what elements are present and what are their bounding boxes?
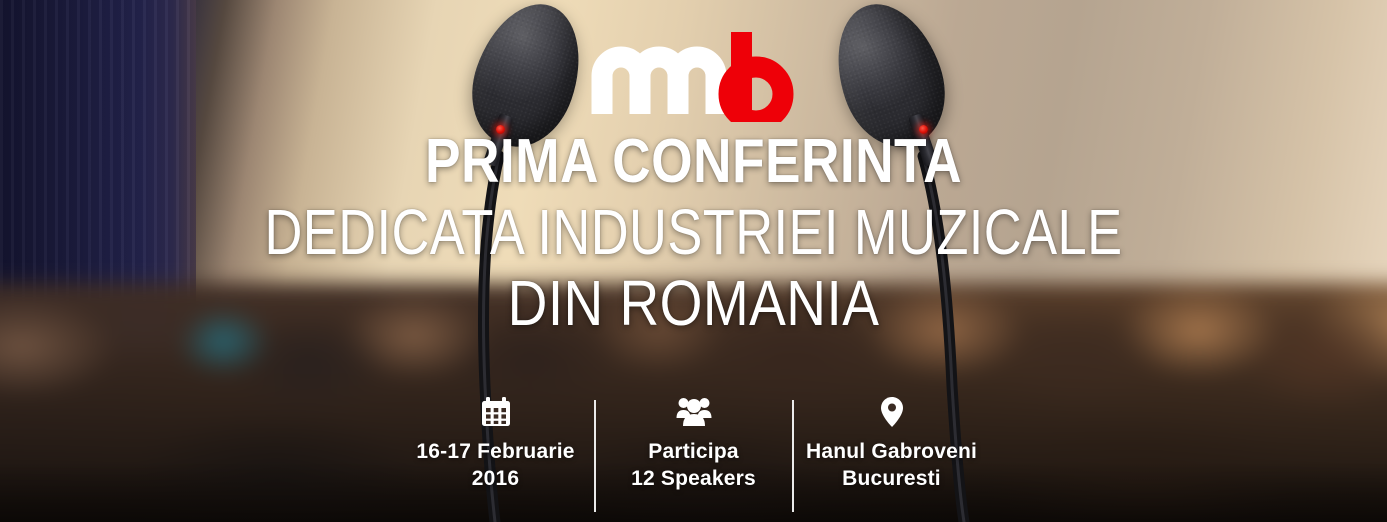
info-item-location: Hanul Gabroveni Bucuresti: [794, 396, 990, 492]
users-icon: [602, 396, 786, 428]
microphone-right-led: [919, 125, 928, 134]
info-date-line-1: 16-17 Februarie: [416, 440, 574, 463]
info-speakers-text: Participa 12 Speakers: [602, 440, 786, 492]
info-date-line-2: 2016: [404, 465, 588, 492]
event-info-bar: 16-17 Februarie 2016 Participa 12 Speake…: [0, 396, 1387, 512]
info-location-line-2: Bucuresti: [800, 465, 984, 492]
info-date-text: 16-17 Februarie 2016: [404, 440, 588, 492]
info-divider-1: [594, 400, 596, 512]
info-location-text: Hanul Gabroveni Bucuresti: [800, 440, 984, 492]
info-divider-2: [792, 400, 794, 512]
calendar-icon: [404, 396, 588, 428]
info-speakers-line-1: Participa: [648, 440, 739, 463]
conference-hero-banner: PRIMA CONFERINTA DEDICATA INDUSTRIEI MUZ…: [0, 0, 1387, 522]
info-speakers-line-2: 12 Speakers: [602, 465, 786, 492]
info-location-line-1: Hanul Gabroveni: [806, 440, 977, 463]
map-pin-icon: [800, 396, 984, 428]
microphone-left-led: [496, 125, 505, 134]
info-item-date: 16-17 Februarie 2016: [398, 396, 594, 492]
info-item-speakers: Participa 12 Speakers: [596, 396, 792, 492]
